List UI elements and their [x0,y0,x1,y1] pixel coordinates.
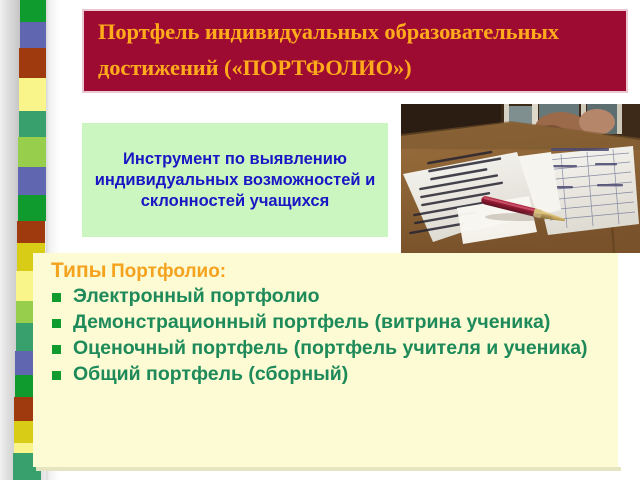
color-block-strip [0,0,28,480]
list-item-label: Общий портфель (сборный) [73,363,348,385]
list-item: Оценочный портфель (портфель учителя и у… [43,336,608,361]
slide-canvas: Портфель индивидуальных образовательных … [0,0,640,480]
sidebar-color-block [20,22,48,48]
content-heading: Типы Портфолио: [51,259,608,283]
content-panel-shadow [36,467,621,471]
portfolio-types-list: Электронный портфолиоДемонстрационный по… [43,284,608,387]
bullet-square-icon [52,319,61,328]
sidebar-color-block [17,221,45,243]
photo-illustration [401,104,640,253]
sidebar-color-block [19,111,47,137]
heading-word-portfolio: Портфолио: [111,261,226,282]
sidebar-color-block [18,137,46,167]
heading-word-types: Типы [51,259,107,282]
sidebar-color-block [18,167,46,195]
sidebar-color-block [18,195,46,221]
sidebar-color-block [20,0,48,22]
bullet-square-icon [52,371,61,380]
list-item-label: Демонстрационный портфель (витрина учени… [73,311,550,333]
list-item-label: Электронный портфолио [73,285,320,307]
slide-title-banner: Портфель индивидуальных образовательных … [82,9,628,93]
bullet-square-icon [52,293,61,302]
subtitle-panel: Инструмент по выявлению индивидуальных в… [82,123,388,237]
list-item: Электронный портфолио [43,284,608,309]
sidebar-color-block [19,78,47,111]
list-item: Общий портфель (сборный) [43,362,608,387]
bullet-square-icon [52,345,61,354]
slide-title-line-2: достижений («ПОРТФОЛИО») [98,50,612,86]
sidebar-color-block [19,48,47,78]
list-item-label: Оценочный портфель (портфель учителя и у… [73,337,588,359]
slide-title-line-1: Портфель индивидуальных образовательных [98,14,612,50]
desk-documents-photo [401,104,640,253]
content-panel: Типы Портфолио: Электронный портфолиоДем… [33,253,618,467]
list-item: Демонстрационный портфель (витрина учени… [43,310,608,335]
subtitle-text: Инструмент по выявлению индивидуальных в… [82,149,388,212]
